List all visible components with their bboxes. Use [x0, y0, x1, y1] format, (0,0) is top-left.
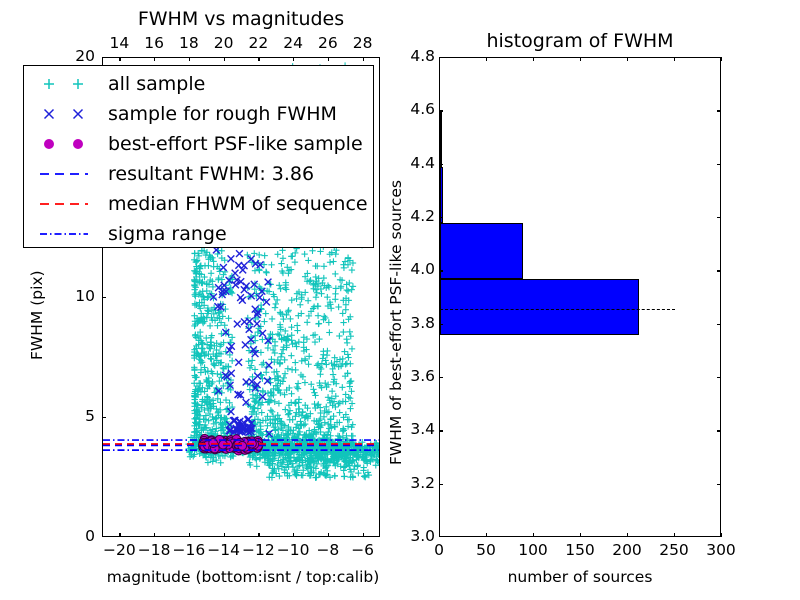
legend-item[interactable]: resultant FWHM: 3.86 [30, 159, 367, 189]
left-xtick-mark-bottom [119, 533, 120, 537]
right-xtick-mark [580, 533, 581, 537]
left-xtick-mark-bottom [328, 533, 329, 537]
right-ytick-label: 4.8 [395, 47, 435, 65]
legend-item-label: sample for rough FWHM [108, 103, 337, 125]
right-ytick-mark [439, 270, 443, 271]
left-xtick-label-top: 28 [343, 34, 383, 52]
right-ytick-mark [439, 324, 443, 325]
right-ytick-label: 4.0 [395, 260, 435, 278]
right-xtick-label: 250 [652, 541, 696, 559]
right-ytick-mark [439, 484, 443, 485]
legend-item-label: all sample [108, 73, 205, 95]
left-xtick-mark-top [258, 57, 259, 61]
left-xtick-mark-bottom [363, 533, 364, 537]
right-ytick-mark [439, 164, 443, 165]
right-ytick-mark [717, 270, 721, 271]
right-xtick-mark [674, 57, 675, 61]
right-xtick-label: 300 [699, 541, 743, 559]
left-ytick-label: 5 [85, 407, 95, 425]
right-xtick-mark [627, 533, 628, 537]
right-ytick-mark [439, 377, 443, 378]
legend-item[interactable]: best-effort PSF-like sample [30, 129, 367, 159]
right-xtick-mark [533, 533, 534, 537]
right-xtick-label: 150 [558, 541, 602, 559]
right-xtick-mark [439, 57, 440, 61]
legend-item-label: sigma range [108, 223, 227, 245]
legend-dot-icon [30, 129, 108, 159]
left-xtick-mark-top [189, 57, 190, 61]
left-xtick-mark-top [293, 57, 294, 61]
right-ytick-label: 4.6 [395, 100, 435, 118]
right-ytick-mark [439, 430, 443, 431]
legend-item[interactable]: all sample [30, 69, 367, 99]
right-xtick-mark [533, 57, 534, 61]
left-xlabel: magnitude (bottom:isnt / top:calib) [98, 568, 388, 586]
left-xtick-label-bottom: −6 [341, 541, 385, 559]
left-panel-title: FWHM vs magnitudes [102, 8, 380, 30]
right-xtick-mark [721, 57, 722, 61]
right-xtick-mark [439, 533, 440, 537]
left-xtick-mark-bottom [189, 533, 190, 537]
right-xtick-label: 200 [605, 541, 649, 559]
right-ytick-mark [717, 430, 721, 431]
right-ytick-mark [439, 217, 443, 218]
legend-item[interactable]: sigma range [30, 219, 367, 249]
legend-item[interactable]: sample for rough FWHM [30, 99, 367, 129]
left-xtick-mark-top [119, 57, 120, 61]
left-ytick-label: 20 [75, 47, 95, 65]
right-panel-histogram: histogram of FWHM FWHM of best-effort PS… [400, 0, 800, 600]
right-xtick-mark [486, 533, 487, 537]
right-xtick-mark [721, 533, 722, 537]
right-ytick-label: 3.8 [395, 314, 435, 332]
legend-dashed-line-icon [30, 189, 108, 219]
histogram-bar [440, 279, 639, 335]
legend-item-label: best-effort PSF-like sample [108, 133, 363, 155]
right-ytick-label: 3.4 [395, 420, 435, 438]
right-ytick-label: 4.2 [395, 207, 435, 225]
right-ytick-label: 4.4 [395, 154, 435, 172]
left-xtick-mark-bottom [293, 533, 294, 537]
legend-plus-icon [30, 69, 108, 99]
left-xtick-mark-top [154, 57, 155, 61]
right-panel-title: histogram of FWHM [439, 30, 721, 52]
histogram-bar [440, 111, 442, 167]
legend-dashed-line-icon [30, 159, 108, 189]
right-ytick-mark [717, 324, 721, 325]
left-ytick-mark [102, 297, 106, 298]
legend-dashdot-line-icon [30, 219, 108, 249]
right-xtick-mark [580, 57, 581, 61]
left-ytick-mark [102, 417, 106, 418]
right-xtick-label: 100 [511, 541, 555, 559]
right-ytick-mark [717, 484, 721, 485]
legend-box: all samplesample for rough FWHMbest-effo… [23, 65, 374, 248]
right-ytick-mark [717, 164, 721, 165]
legend-item-label: median FHWM of sequence [108, 193, 368, 215]
right-ytick-mark [717, 110, 721, 111]
left-xtick-mark-top [363, 57, 364, 61]
right-xlabel: number of sources [439, 568, 721, 586]
left-ytick-label: 10 [75, 287, 95, 305]
resultant-fwhm-reference-line [440, 309, 675, 310]
right-plot-area [439, 57, 721, 537]
legend-item-label: resultant FWHM: 3.86 [108, 163, 314, 185]
right-xtick-mark [674, 533, 675, 537]
right-ytick-label: 3.6 [395, 367, 435, 385]
right-xtick-mark [627, 57, 628, 61]
figure-canvas: FWHM vs magnitudes FWHM (pix) magnitude … [0, 0, 800, 600]
histogram-bar [440, 167, 443, 223]
left-ytick-label: 0 [85, 527, 95, 545]
right-ytick-mark [439, 110, 443, 111]
right-ytick-mark [717, 217, 721, 218]
legend-cross-icon [30, 99, 108, 129]
left-xtick-mark-top [224, 57, 225, 61]
left-xtick-mark-bottom [154, 533, 155, 537]
right-ytick-label: 3.2 [395, 474, 435, 492]
right-ytick-mark [717, 377, 721, 378]
left-ylabel: FWHM (pix) [28, 270, 46, 360]
right-xtick-label: 50 [464, 541, 508, 559]
histogram-bar [440, 223, 523, 279]
right-xtick-mark [486, 57, 487, 61]
left-xtick-mark-bottom [258, 533, 259, 537]
left-xtick-mark-bottom [224, 533, 225, 537]
legend-item[interactable]: median FHWM of sequence [30, 189, 367, 219]
right-xtick-label: 0 [417, 541, 461, 559]
left-xtick-mark-top [328, 57, 329, 61]
